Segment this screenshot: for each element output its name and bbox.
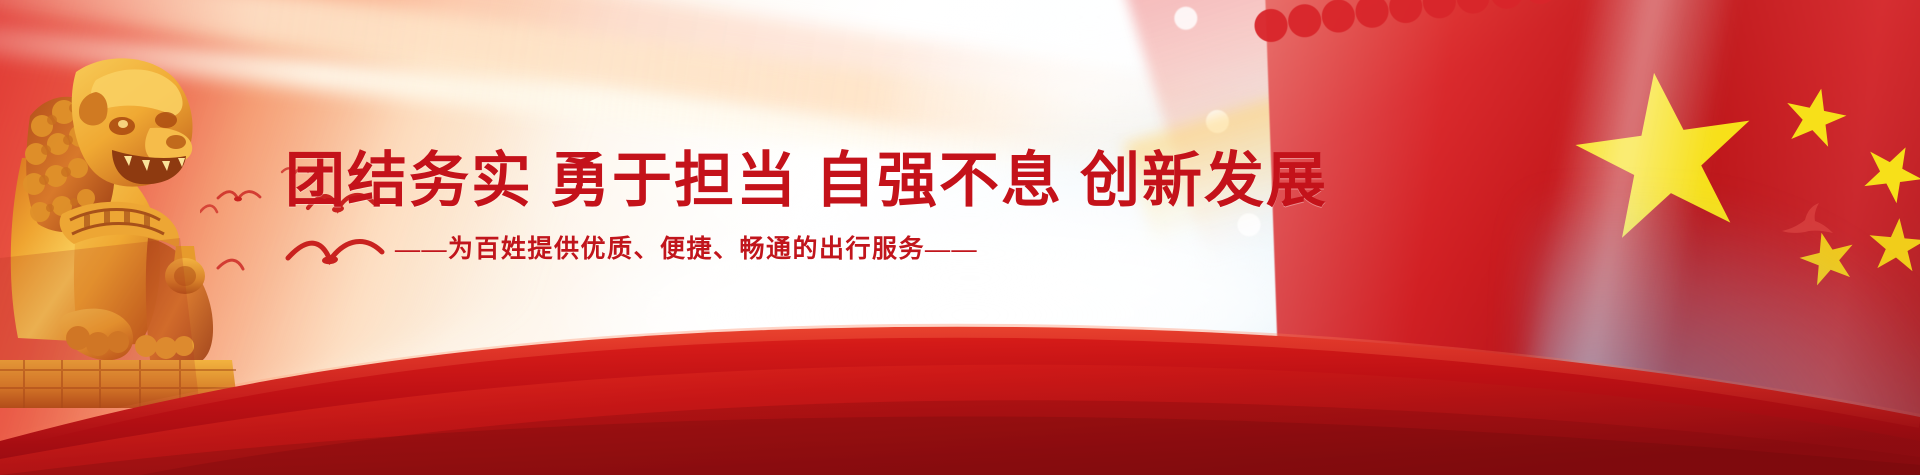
banner-root: 团结务实 勇于担当 自强不息 创新发展 ——为百姓提供优质、便捷、畅通的出行服务… [0, 0, 1920, 475]
dove-icon [1778, 200, 1838, 244]
page-subtitle: ——为百姓提供优质、便捷、畅通的出行服务—— [395, 229, 1045, 265]
slogan-text-block: 团结务实 勇于担当 自强不息 创新发展 ——为百姓提供优质、便捷、畅通的出行服务… [285, 150, 1045, 265]
red-silk-wave [0, 245, 1920, 475]
page-title: 团结务实 勇于担当 自强不息 创新发展 [285, 150, 1045, 213]
